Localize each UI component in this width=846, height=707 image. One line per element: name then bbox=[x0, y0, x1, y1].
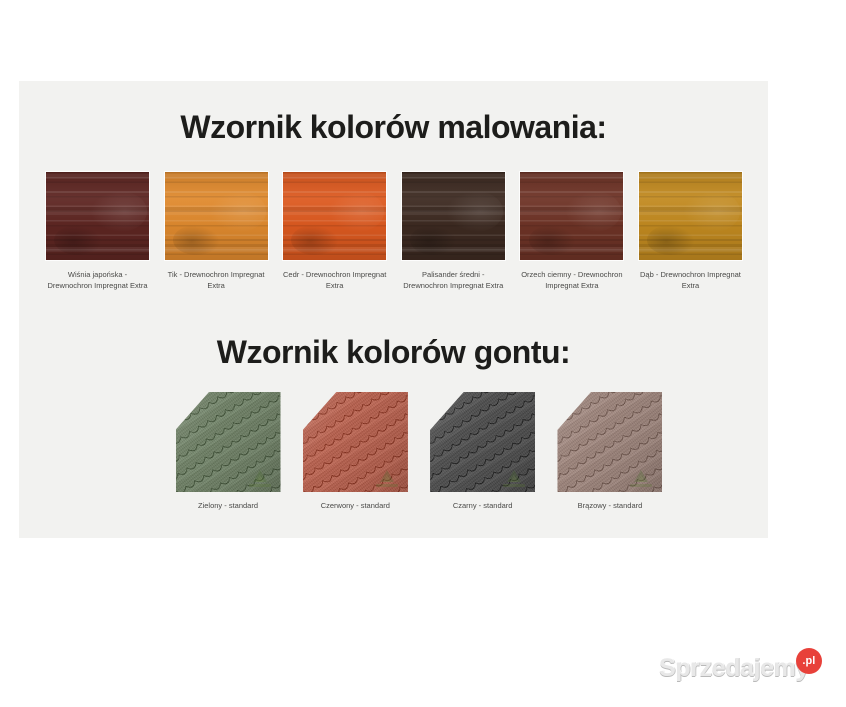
watermark-text: Sprzedajemy bbox=[659, 656, 809, 681]
chip-shading bbox=[520, 172, 623, 260]
paint-swatch: Dąb - Drewnochron Impregnat Extra bbox=[637, 172, 744, 291]
paint-swatch: Cedr - Drewnochron Impregnat Extra bbox=[281, 172, 388, 291]
shingle-swatch-label: Czerwony - standard bbox=[296, 500, 414, 511]
content-panel: Wzornik kolorów malowania: Wiśnia japońs… bbox=[19, 81, 768, 538]
chip-shading bbox=[639, 172, 742, 260]
manufacturer-logo-icon bbox=[624, 464, 658, 490]
paint-swatch: Orzech ciemny - Drewnochron Impregnat Ex… bbox=[518, 172, 625, 291]
shingle-swatch: Zielony - standard bbox=[169, 392, 287, 511]
paint-swatch-chip bbox=[639, 172, 742, 260]
shingle-swatch-label: Czarny - standard bbox=[424, 500, 542, 511]
paint-swatch-chip bbox=[46, 172, 149, 260]
paint-swatch: Wiśnia japońska - Drewnochron Impregnat … bbox=[44, 172, 151, 291]
paint-section-title: Wzornik kolorów malowania: bbox=[19, 109, 768, 146]
paint-swatch-label: Cedr - Drewnochron Impregnat Extra bbox=[282, 269, 387, 291]
chip-shading bbox=[165, 172, 268, 260]
chip-shading bbox=[46, 172, 149, 260]
paint-swatch: Tik - Drewnochron Impregnat Extra bbox=[163, 172, 270, 291]
shingle-swatch-chip bbox=[303, 392, 408, 492]
manufacturer-logo-icon bbox=[370, 464, 404, 490]
paint-swatch-label: Tik - Drewnochron Impregnat Extra bbox=[164, 269, 269, 291]
paint-swatch-chip bbox=[165, 172, 268, 260]
paint-swatch: Palisander średni - Drewnochron Impregna… bbox=[400, 172, 507, 291]
shingle-swatch: Czerwony - standard bbox=[296, 392, 414, 511]
paint-swatch-chip bbox=[283, 172, 386, 260]
paint-swatch-label: Orzech ciemny - Drewnochron Impregnat Ex… bbox=[519, 269, 624, 291]
paint-swatch-label: Palisander średni - Drewnochron Impregna… bbox=[401, 269, 506, 291]
manufacturer-logo-icon bbox=[497, 464, 531, 490]
paint-swatch-label: Dąb - Drewnochron Impregnat Extra bbox=[638, 269, 743, 291]
paint-swatch-label: Wiśnia japońska - Drewnochron Impregnat … bbox=[45, 269, 150, 291]
chip-shading bbox=[402, 172, 505, 260]
shingle-swatch-label: Brązowy - standard bbox=[551, 500, 669, 511]
watermark-badge: .pl bbox=[796, 648, 822, 674]
shingle-swatch-label: Zielony - standard bbox=[169, 500, 287, 511]
manufacturer-logo-icon bbox=[243, 464, 277, 490]
paint-swatch-chip bbox=[402, 172, 505, 260]
watermark: Sprzedajemy .pl bbox=[659, 652, 822, 684]
shingle-swatch-chip bbox=[557, 392, 662, 492]
paint-swatch-chip bbox=[520, 172, 623, 260]
shingle-swatch: Czarny - standard bbox=[424, 392, 542, 511]
shingle-swatch-row: Zielony - standardCzerwony - standardCza… bbox=[169, 392, 669, 511]
shingle-section-title: Wzornik kolorów gontu: bbox=[19, 334, 768, 371]
shingle-swatch: Brązowy - standard bbox=[551, 392, 669, 511]
shingle-swatch-chip bbox=[176, 392, 281, 492]
chip-shading bbox=[283, 172, 386, 260]
paint-swatch-row: Wiśnia japońska - Drewnochron Impregnat … bbox=[44, 172, 744, 291]
shingle-swatch-chip bbox=[430, 392, 535, 492]
